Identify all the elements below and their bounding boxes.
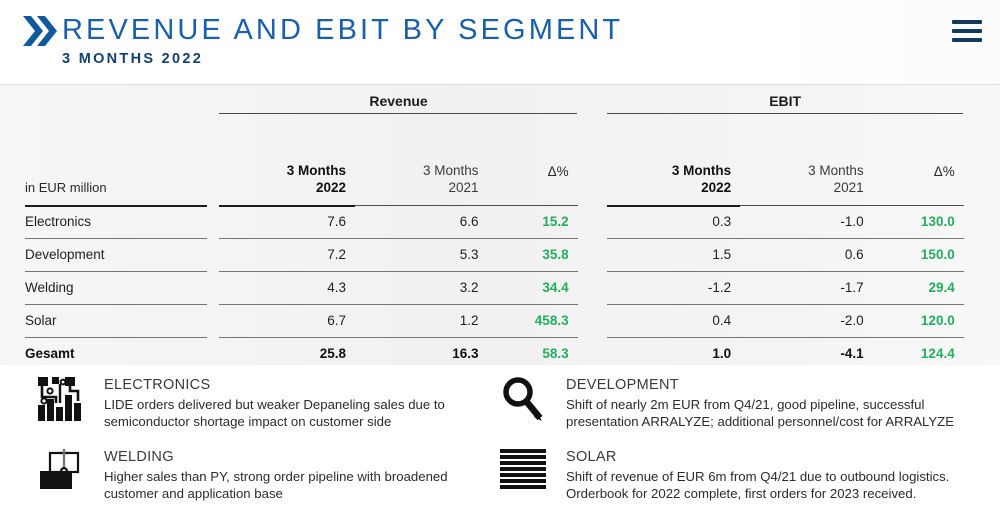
separator-revenue-2021 bbox=[355, 299, 488, 309]
cell-revenue-delta: 458.3 bbox=[488, 309, 578, 332]
column-header-ebit-2021: 3 Months 2021 bbox=[740, 117, 873, 201]
group-rule-ebit bbox=[607, 109, 964, 117]
note-development: DEVELOPMENT Shift of nearly 2m EUR from … bbox=[492, 373, 1000, 445]
note-text: LIDE orders delivered but weaker Depanel… bbox=[104, 396, 492, 430]
magnifier-icon bbox=[500, 377, 558, 425]
hamburger-bar-1 bbox=[952, 20, 982, 24]
col-head-line1: 3 Months bbox=[740, 162, 864, 179]
cell-ebit-delta: 130.0 bbox=[873, 210, 964, 233]
cell-segment-name: Gesamt bbox=[0, 342, 219, 365]
cell-ebit-delta: 29.4 bbox=[873, 276, 964, 299]
spacer-cell-mid bbox=[578, 201, 607, 210]
underline-ebit-2021 bbox=[740, 201, 873, 210]
separator-ebit-2021 bbox=[740, 266, 873, 276]
spacer-cell-right bbox=[964, 201, 1000, 210]
group-header-revenue: Revenue bbox=[219, 85, 577, 109]
cell-revenue-2022: 25.8 bbox=[219, 342, 355, 365]
separator-ebit-delta bbox=[873, 233, 964, 243]
cell-revenue-2021: 1.2 bbox=[355, 309, 488, 332]
separator-revenue-2022 bbox=[219, 299, 355, 309]
spacer-cell-mid bbox=[578, 243, 607, 266]
spacer-cell bbox=[0, 109, 219, 117]
table-row: Welding4.33.234.4-1.2-1.729.4 bbox=[0, 276, 1000, 299]
underline-revenue-2022 bbox=[219, 201, 355, 210]
double-chevron-right-icon bbox=[22, 14, 58, 48]
table-header-underline-row bbox=[0, 201, 1000, 210]
cell-revenue-2022: 6.7 bbox=[219, 309, 355, 332]
solar-panel-icon bbox=[500, 449, 558, 497]
col-head-line2: 2021 bbox=[740, 179, 864, 196]
column-header-revenue-delta: Δ% bbox=[488, 117, 578, 201]
note-body: ELECTRONICS LIDE orders delivered but we… bbox=[104, 373, 492, 430]
spacer-cell-mid bbox=[578, 276, 607, 299]
separator-ebit-2022 bbox=[607, 332, 741, 342]
note-electronics: ELECTRONICS LIDE orders delivered but we… bbox=[0, 373, 492, 445]
note-welding: WELDING Higher sales than PY, strong ord… bbox=[0, 445, 492, 502]
table-column-header-row: in EUR million 3 Months 2022 3 Months 20… bbox=[0, 117, 1000, 201]
cell-ebit-2022: 0.4 bbox=[607, 309, 741, 332]
underline-ebit-delta bbox=[873, 201, 964, 210]
spacer-cell-right bbox=[964, 332, 1000, 342]
separator-label-col bbox=[0, 233, 219, 243]
underline-ebit-2022 bbox=[607, 201, 741, 210]
cell-revenue-delta: 15.2 bbox=[488, 210, 578, 233]
separator-ebit-2022 bbox=[607, 299, 741, 309]
separator-revenue-2021 bbox=[355, 266, 488, 276]
note-text: Higher sales than PY, strong order pipel… bbox=[104, 468, 492, 502]
cell-revenue-2022: 7.6 bbox=[219, 210, 355, 233]
cell-ebit-2021: 0.6 bbox=[740, 243, 873, 266]
spacer-cell-right bbox=[964, 85, 1000, 109]
cell-revenue-delta: 34.4 bbox=[488, 276, 578, 299]
separator-ebit-2022 bbox=[607, 266, 741, 276]
spacer-cell-mid bbox=[578, 85, 607, 109]
spacer-cell-mid bbox=[578, 117, 607, 201]
separator-revenue-2022 bbox=[219, 233, 355, 243]
spacer-cell-right bbox=[964, 276, 1000, 299]
spacer-cell-right bbox=[964, 299, 1000, 309]
financial-table-section: Revenue EBIT in EUR million 3 Months 202… bbox=[0, 85, 1000, 365]
spacer-cell-mid bbox=[578, 309, 607, 332]
group-header-ebit: EBIT bbox=[607, 85, 964, 109]
table-row-total: Gesamt25.816.358.31.0-4.1124.4 bbox=[0, 342, 1000, 365]
note-text: Shift of revenue of EUR 6m from Q4/21 du… bbox=[566, 468, 1000, 502]
cell-revenue-2021: 6.6 bbox=[355, 210, 488, 233]
underline-revenue-2021 bbox=[355, 201, 488, 210]
cell-revenue-2021: 3.2 bbox=[355, 276, 488, 299]
table-row-separator bbox=[0, 233, 1000, 243]
spacer-cell-right bbox=[964, 243, 1000, 266]
cell-ebit-delta: 120.0 bbox=[873, 309, 964, 332]
cell-segment-name: Development bbox=[0, 243, 219, 266]
spacer-cell-right bbox=[964, 309, 1000, 332]
cell-revenue-delta: 58.3 bbox=[488, 342, 578, 365]
cell-ebit-delta: 150.0 bbox=[873, 243, 964, 266]
hamburger-bar-2 bbox=[952, 29, 982, 33]
cell-ebit-2021: -1.7 bbox=[740, 276, 873, 299]
segment-financials-table: Revenue EBIT in EUR million 3 Months 202… bbox=[0, 85, 1000, 365]
cell-ebit-2022: 0.3 bbox=[607, 210, 741, 233]
separator-ebit-2021 bbox=[740, 332, 873, 342]
spacer-cell-right bbox=[964, 109, 1000, 117]
table-group-rule-row bbox=[0, 109, 1000, 117]
table-row-separator bbox=[0, 332, 1000, 342]
underline-label-col bbox=[0, 201, 219, 210]
table-row-separator bbox=[0, 299, 1000, 309]
cell-revenue-2021: 5.3 bbox=[355, 243, 488, 266]
note-body: WELDING Higher sales than PY, strong ord… bbox=[104, 445, 492, 502]
col-head-line2: 2021 bbox=[355, 179, 479, 196]
page-subtitle: 3 MONTHS 2022 bbox=[62, 51, 203, 67]
separator-revenue-2021 bbox=[355, 233, 488, 243]
note-title: DEVELOPMENT bbox=[566, 375, 1000, 395]
note-text: Shift of nearly 2m EUR from Q4/21, good … bbox=[566, 396, 1000, 430]
note-body: SOLAR Shift of revenue of EUR 6m from Q4… bbox=[566, 445, 1000, 502]
table-group-title-row: Revenue EBIT bbox=[0, 85, 1000, 109]
separator-revenue-delta bbox=[488, 266, 578, 276]
spacer-cell-mid bbox=[578, 233, 607, 243]
cell-ebit-2022: -1.2 bbox=[607, 276, 741, 299]
cell-ebit-2022: 1.0 bbox=[607, 342, 741, 365]
note-title: SOLAR bbox=[566, 447, 1000, 467]
page-title: REVENUE AND EBIT BY SEGMENT bbox=[62, 8, 623, 52]
table-row: Electronics7.66.615.20.3-1.0130.0 bbox=[0, 210, 1000, 233]
spacer-cell-right bbox=[964, 210, 1000, 233]
spacer-cell-mid bbox=[578, 210, 607, 233]
note-title: WELDING bbox=[104, 447, 492, 467]
col-head-line2: 2022 bbox=[607, 179, 732, 196]
column-header-ebit-delta: Δ% bbox=[873, 117, 964, 201]
separator-revenue-delta bbox=[488, 299, 578, 309]
cell-revenue-2022: 4.3 bbox=[219, 276, 355, 299]
column-header-revenue-2021: 3 Months 2021 bbox=[355, 117, 488, 201]
welding-icon bbox=[38, 449, 96, 497]
table-row-separator bbox=[0, 266, 1000, 276]
separator-label-col bbox=[0, 299, 219, 309]
segment-notes-section: ELECTRONICS LIDE orders delivered but we… bbox=[0, 365, 1000, 530]
page-header: REVENUE AND EBIT BY SEGMENT 3 MONTHS 202… bbox=[0, 0, 1000, 85]
cell-ebit-delta: 124.4 bbox=[873, 342, 964, 365]
cell-revenue-2021: 16.3 bbox=[355, 342, 488, 365]
col-head-line1: 3 Months bbox=[355, 162, 479, 179]
spacer-cell-mid bbox=[578, 299, 607, 309]
note-solar: SOLAR Shift of revenue of EUR 6m from Q4… bbox=[492, 445, 1000, 502]
separator-ebit-2022 bbox=[607, 233, 741, 243]
spacer-cell-right bbox=[964, 233, 1000, 243]
group-rule-revenue bbox=[219, 109, 577, 117]
cell-revenue-delta: 35.8 bbox=[488, 243, 578, 266]
spacer-cell bbox=[0, 85, 219, 109]
table-row: Development7.25.335.81.50.6150.0 bbox=[0, 243, 1000, 266]
column-header-ebit-2022: 3 Months 2022 bbox=[607, 117, 741, 201]
note-title: ELECTRONICS bbox=[104, 375, 492, 395]
cell-segment-name: Electronics bbox=[0, 210, 219, 233]
separator-ebit-delta bbox=[873, 299, 964, 309]
spacer-cell-right bbox=[964, 342, 1000, 365]
separator-revenue-2022 bbox=[219, 266, 355, 276]
table-body: Electronics7.66.615.20.3-1.0130.0Develop… bbox=[0, 210, 1000, 365]
note-body: DEVELOPMENT Shift of nearly 2m EUR from … bbox=[566, 373, 1000, 430]
separator-revenue-2021 bbox=[355, 332, 488, 342]
hamburger-menu-icon[interactable] bbox=[952, 20, 982, 44]
col-head-line1: 3 Months bbox=[219, 162, 346, 179]
column-header-unit: in EUR million bbox=[0, 117, 219, 201]
notes-grid: ELECTRONICS LIDE orders delivered but we… bbox=[0, 373, 1000, 502]
separator-revenue-delta bbox=[488, 233, 578, 243]
cell-ebit-2022: 1.5 bbox=[607, 243, 741, 266]
spacer-cell-mid bbox=[578, 266, 607, 276]
spacer-cell-right bbox=[964, 266, 1000, 276]
underline-revenue-delta bbox=[488, 201, 578, 210]
header-title-block: REVENUE AND EBIT BY SEGMENT 3 MONTHS 202… bbox=[62, 8, 623, 52]
cell-segment-name: Solar bbox=[0, 309, 219, 332]
spacer-cell-mid bbox=[578, 332, 607, 342]
cell-ebit-2021: -2.0 bbox=[740, 309, 873, 332]
col-head-line2: 2022 bbox=[219, 179, 346, 196]
spacer-cell-right bbox=[964, 117, 1000, 201]
cell-segment-name: Welding bbox=[0, 276, 219, 299]
separator-revenue-2022 bbox=[219, 332, 355, 342]
cell-revenue-2022: 7.2 bbox=[219, 243, 355, 266]
column-header-revenue-2022: 3 Months 2022 bbox=[219, 117, 355, 201]
separator-ebit-delta bbox=[873, 332, 964, 342]
spacer-cell-mid bbox=[578, 109, 607, 117]
separator-ebit-delta bbox=[873, 266, 964, 276]
circuit-board-icon bbox=[38, 377, 96, 425]
spacer-cell-mid bbox=[578, 342, 607, 365]
separator-label-col bbox=[0, 332, 219, 342]
table-row: Solar6.71.2458.30.4-2.0120.0 bbox=[0, 309, 1000, 332]
separator-ebit-2021 bbox=[740, 299, 873, 309]
separator-revenue-delta bbox=[488, 332, 578, 342]
cell-ebit-2021: -4.1 bbox=[740, 342, 873, 365]
col-head-line1: 3 Months bbox=[607, 162, 732, 179]
cell-ebit-2021: -1.0 bbox=[740, 210, 873, 233]
separator-ebit-2021 bbox=[740, 233, 873, 243]
separator-label-col bbox=[0, 266, 219, 276]
hamburger-bar-3 bbox=[952, 38, 982, 42]
